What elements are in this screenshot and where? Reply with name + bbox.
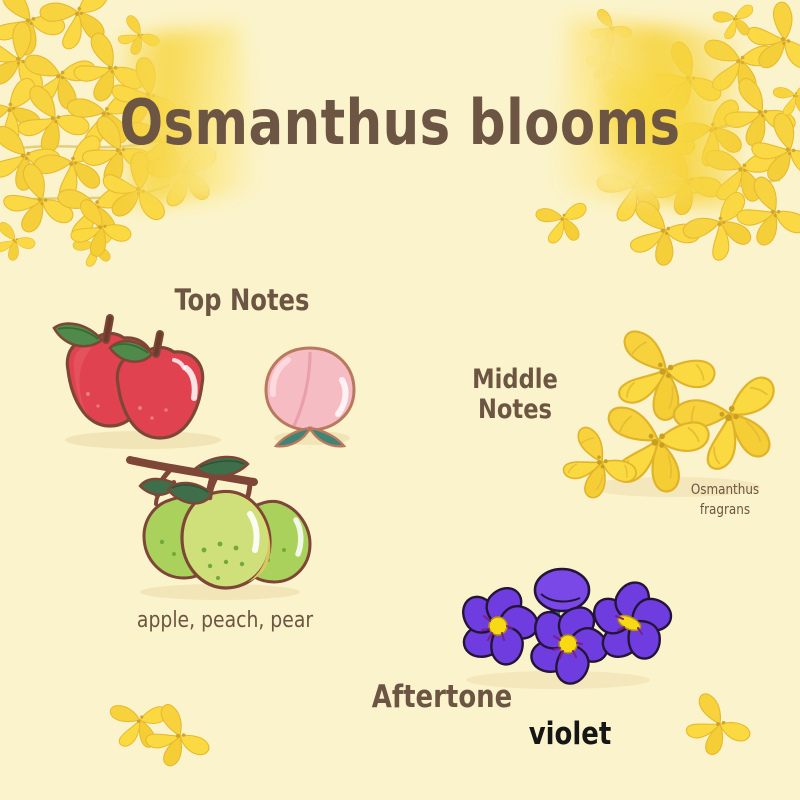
top-notes-label: Top Notes bbox=[138, 284, 346, 316]
aftertone-label: Aftertone bbox=[338, 680, 546, 715]
aftertone-caption: violet bbox=[468, 716, 673, 752]
apples-illustration bbox=[48, 312, 238, 452]
top-notes-caption: apple, peach, pear bbox=[68, 608, 382, 633]
scattered-blossom-left-upper bbox=[62, 192, 142, 262]
scattered-blossom-bottom-left bbox=[98, 688, 218, 778]
page-title: Osmanthus blooms bbox=[32, 92, 768, 154]
scattered-blossom-bottom-right bbox=[672, 682, 772, 772]
scattered-blossom-center-upper bbox=[528, 188, 598, 248]
middle-notes-caption: Osmanthus fragrans bbox=[659, 481, 792, 520]
poster-canvas: Osmanthus blooms bbox=[0, 0, 800, 800]
peach-illustration bbox=[258, 338, 363, 448]
violets-illustration bbox=[440, 552, 675, 692]
middle-notes-label: Middle Notes bbox=[447, 365, 583, 425]
osmanthus-flowers-illustration bbox=[562, 322, 787, 502]
pears-illustration bbox=[112, 442, 327, 602]
